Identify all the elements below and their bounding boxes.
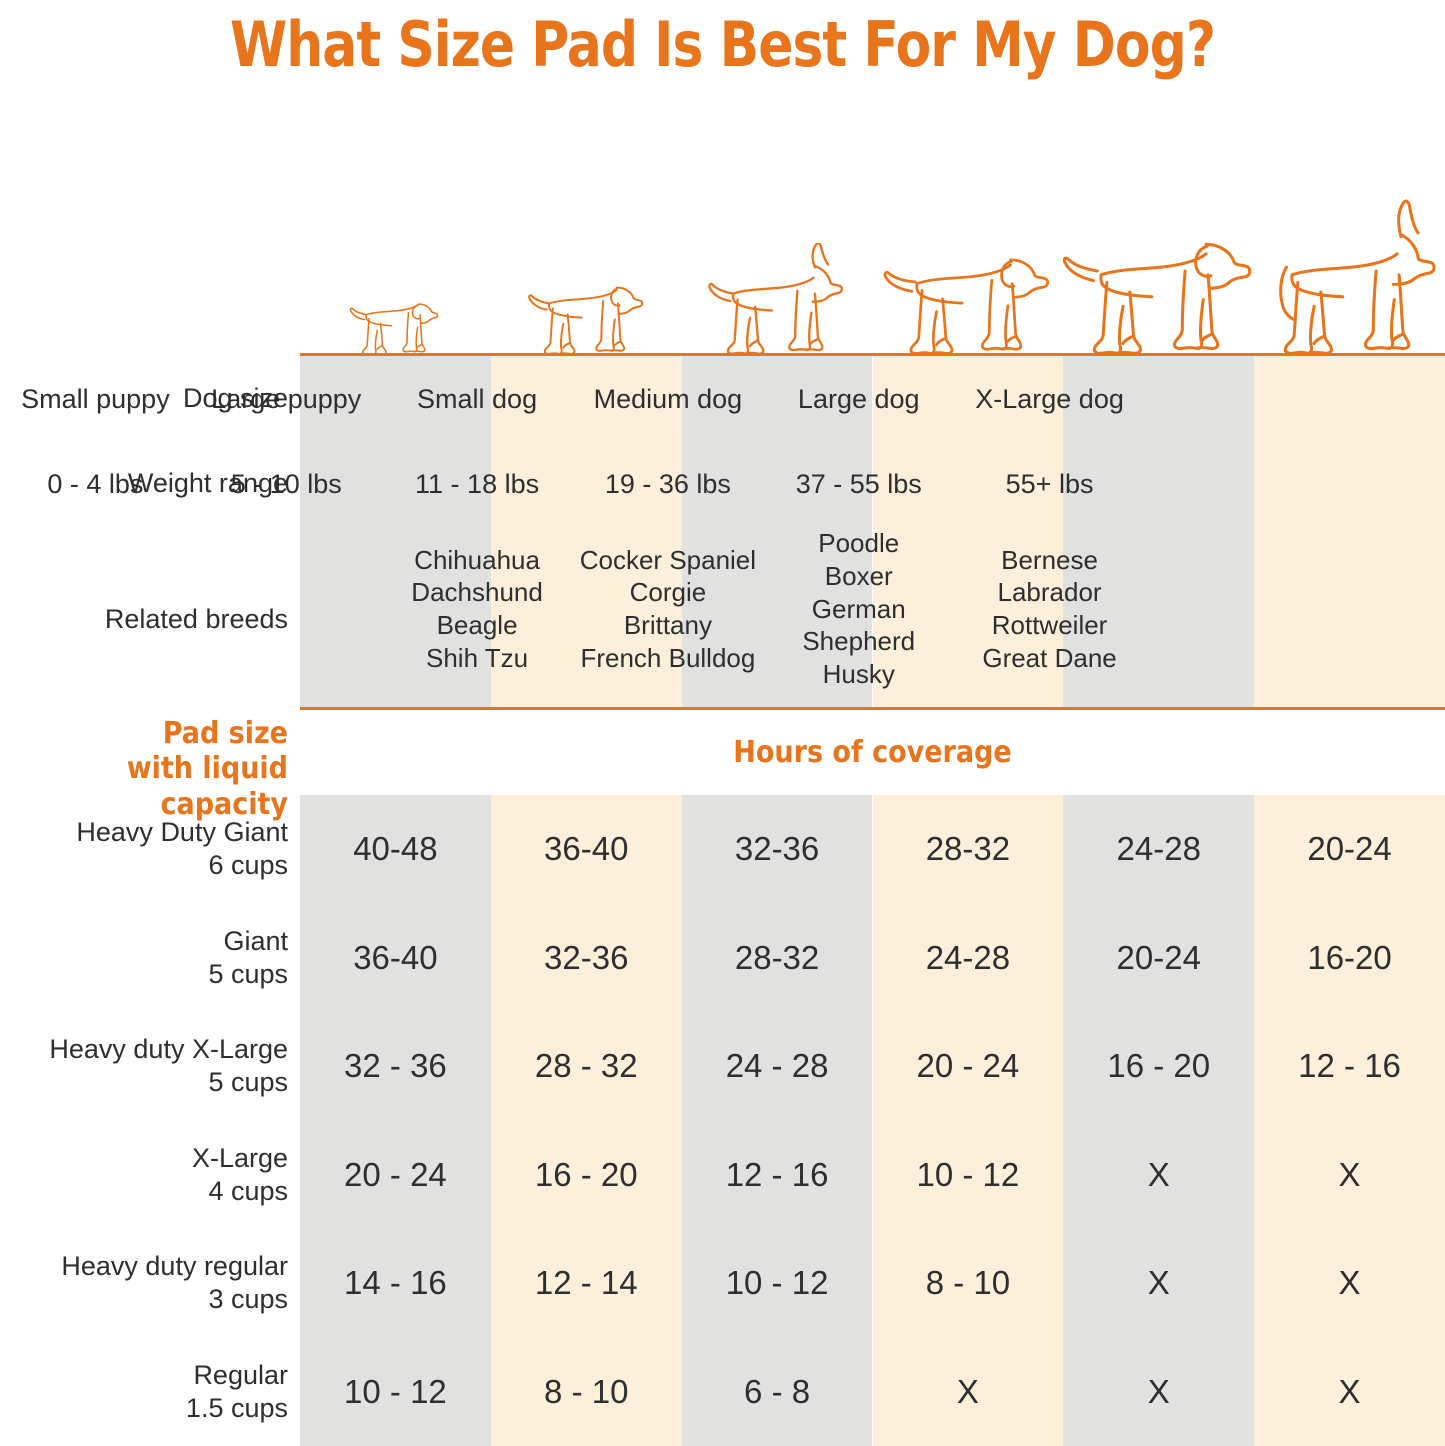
cell-weight_range-4: 37 - 55 lbs	[763, 463, 954, 505]
pad-size-name: Giant	[223, 925, 288, 958]
row-weight-range: 0 - 4 lbs5 - 10 lbs11 - 18 lbs19 - 36 lb…	[0, 463, 1145, 505]
breed-name: Rottweiler	[992, 609, 1108, 642]
cell-dog_size-4: Large dog	[763, 378, 954, 420]
coverage-cell-r5-c3: X	[872, 1338, 1063, 1446]
breed-name: Chihuahua	[414, 544, 540, 577]
dog-silhouette-xlarge-dog	[1254, 169, 1445, 355]
coverage-cell-r0-c0: 40-48	[300, 795, 491, 904]
dog-silhouette-small-dog	[704, 243, 850, 355]
pad-size-row-label-1: Giant5 cups	[0, 904, 288, 1013]
cell-breeds-4: PoodleBoxerGermanShepherdHusky	[763, 528, 954, 690]
coverage-cell-r0-c2: 32-36	[682, 795, 873, 904]
coverage-row-1: 36-4032-3628-3224-2820-2416-20	[300, 904, 1445, 1013]
coverage-cell-r1-c4: 20-24	[1063, 904, 1254, 1013]
coverage-cell-r4-c1: 12 - 14	[491, 1229, 682, 1338]
coverage-table: 40-4836-4032-3628-3224-2820-2436-4032-36…	[300, 795, 1445, 1446]
pad-size-name: Heavy Duty Giant	[76, 816, 288, 849]
coverage-cell-r2-c3: 20 - 24	[872, 1012, 1063, 1121]
row-related-breeds: ChihuahuaDachshundBeagleShih TzuCocker S…	[0, 528, 1145, 690]
breed-name: Brittany	[624, 609, 712, 642]
coverage-cell-r3-c3: 10 - 12	[872, 1121, 1063, 1230]
coverage-cell-r1-c1: 32-36	[491, 904, 682, 1013]
coverage-cell-r4-c3: 8 - 10	[872, 1229, 1063, 1338]
breed-name: German	[812, 593, 906, 626]
cell-weight_range-5: 55+ lbs	[954, 463, 1145, 505]
coverage-cell-r2-c5: 12 - 16	[1254, 1012, 1445, 1121]
breed-name: French Bulldog	[580, 642, 755, 675]
dog-silhouette-cell-2	[682, 150, 873, 355]
breed-name: Husky	[823, 658, 895, 691]
pad-size-capacity: 3 cups	[208, 1283, 288, 1316]
dog-silhouette-large-puppy	[523, 263, 649, 355]
dog-silhouette-cell-1	[491, 150, 682, 355]
pad-size-row-label-2: Heavy duty X-Large5 cups	[0, 1012, 288, 1121]
divider-bottom	[300, 707, 1445, 710]
breed-name: Shepherd	[802, 625, 915, 658]
coverage-cell-r3-c4: X	[1063, 1121, 1254, 1230]
coverage-row-2: 32 - 3628 - 3224 - 2820 - 2416 - 2012 - …	[300, 1012, 1445, 1121]
coverage-cell-r4-c2: 10 - 12	[682, 1229, 873, 1338]
coverage-cell-r3-c1: 16 - 20	[491, 1121, 682, 1230]
cell-weight_range-1: 5 - 10 lbs	[191, 463, 382, 505]
coverage-cell-r2-c2: 24 - 28	[682, 1012, 873, 1121]
coverage-cell-r0-c5: 20-24	[1254, 795, 1445, 904]
pad-size-row-label-5: Regular1.5 cups	[0, 1338, 288, 1446]
page-title: What Size Pad Is Best For My Dog?	[51, 8, 1395, 81]
cell-breeds-3: Cocker SpanielCorgieBrittanyFrench Bulld…	[572, 528, 763, 690]
dog-silhouette-cell-0	[300, 150, 491, 355]
pad-size-row-label-3: X-Large4 cups	[0, 1121, 288, 1230]
row-dog-size: Small puppyLarge puppySmall dogMedium do…	[0, 378, 1145, 420]
pad-size-row-label-4: Heavy duty regular3 cups	[0, 1229, 288, 1338]
pad-size-name: Heavy duty regular	[61, 1250, 288, 1283]
cell-breeds-1	[191, 528, 382, 690]
breed-name: Poodle	[818, 527, 899, 560]
breed-name: Labrador	[998, 576, 1102, 609]
coverage-row-3: 20 - 2416 - 2012 - 1610 - 12XX	[300, 1121, 1445, 1230]
pad-size-capacity: 4 cups	[208, 1175, 288, 1208]
coverage-cell-r0-c3: 28-32	[872, 795, 1063, 904]
coverage-cell-r3-c0: 20 - 24	[300, 1121, 491, 1230]
coverage-row-0: 40-4836-4032-3628-3224-2820-24	[300, 795, 1445, 904]
breed-name: Dachshund	[411, 576, 543, 609]
coverage-cell-r5-c5: X	[1254, 1338, 1445, 1446]
dog-silhouette-cell-4	[1063, 150, 1254, 355]
coverage-cell-r5-c1: 8 - 10	[491, 1338, 682, 1446]
dog-silhouette-cell-5	[1254, 150, 1445, 355]
cell-dog_size-0: Small puppy	[0, 378, 191, 420]
coverage-cell-r4-c5: X	[1254, 1229, 1445, 1338]
pad-size-name: X-Large	[192, 1142, 288, 1175]
cell-breeds-5: BerneseLabradorRottweilerGreat Dane	[954, 528, 1145, 690]
coverage-row-5: 10 - 128 - 106 - 8XXX	[300, 1338, 1445, 1446]
cell-dog_size-3: Medium dog	[572, 378, 763, 420]
coverage-cell-r5-c0: 10 - 12	[300, 1338, 491, 1446]
pad-size-capacity: 1.5 cups	[186, 1392, 288, 1425]
breed-name: Shih Tzu	[426, 642, 528, 675]
dog-silhouette-small-puppy	[343, 283, 447, 355]
pad-size-capacity: 5 cups	[208, 958, 288, 991]
coverage-cell-r4-c0: 14 - 16	[300, 1229, 491, 1338]
pad-size-row-label-0: Heavy Duty Giant6 cups	[0, 795, 288, 904]
dog-silhouette-cell-3	[873, 150, 1064, 355]
coverage-cell-r2-c4: 16 - 20	[1063, 1012, 1254, 1121]
cell-dog_size-5: X-Large dog	[954, 378, 1145, 420]
coverage-cell-r0-c4: 24-28	[1063, 795, 1254, 904]
coverage-cell-r5-c2: 6 - 8	[682, 1338, 873, 1446]
breed-name: Cocker Spaniel	[580, 544, 756, 577]
breed-name: Corgie	[630, 576, 707, 609]
coverage-row-4: 14 - 1612 - 1410 - 128 - 10XX	[300, 1229, 1445, 1338]
pad-size-name: Regular	[193, 1359, 288, 1392]
dog-silhouette-large-dog	[1063, 203, 1254, 355]
coverage-cell-r3-c2: 12 - 16	[682, 1121, 873, 1230]
coverage-cell-r3-c5: X	[1254, 1121, 1445, 1230]
cell-dog_size-1: Large puppy	[191, 378, 382, 420]
cell-breeds-0	[0, 528, 191, 690]
coverage-cell-r1-c5: 16-20	[1254, 904, 1445, 1013]
dog-silhouette-medium-dog	[883, 223, 1053, 355]
coverage-cell-r2-c1: 28 - 32	[491, 1012, 682, 1121]
coverage-cell-r5-c4: X	[1063, 1338, 1254, 1446]
pad-size-name: Heavy duty X-Large	[49, 1033, 288, 1066]
breed-name: Great Dane	[982, 642, 1116, 675]
hours-of-coverage-header: Hours of coverage	[300, 735, 1445, 770]
cell-weight_range-3: 19 - 36 lbs	[572, 463, 763, 505]
pad-size-header-line1: Pad size	[0, 716, 288, 751]
cell-breeds-2: ChihuahuaDachshundBeagleShih Tzu	[382, 528, 573, 690]
breed-name: Beagle	[437, 609, 518, 642]
pad-size-capacity: 5 cups	[208, 1066, 288, 1099]
coverage-cell-r0-c1: 36-40	[491, 795, 682, 904]
coverage-cell-r1-c3: 24-28	[872, 904, 1063, 1013]
cell-dog_size-2: Small dog	[382, 378, 573, 420]
pad-size-capacity: 6 cups	[208, 849, 288, 882]
cell-weight_range-0: 0 - 4 lbs	[0, 463, 191, 505]
coverage-cell-r1-c0: 36-40	[300, 904, 491, 1013]
dog-silhouette-row	[300, 150, 1445, 355]
coverage-cell-r4-c4: X	[1063, 1229, 1254, 1338]
column-background-5	[1254, 356, 1445, 707]
cell-weight_range-2: 11 - 18 lbs	[382, 463, 573, 505]
coverage-cell-r1-c2: 28-32	[682, 904, 873, 1013]
coverage-cell-r2-c0: 32 - 36	[300, 1012, 491, 1121]
breed-name: Boxer	[825, 560, 893, 593]
breed-name: Bernese	[1001, 544, 1098, 577]
